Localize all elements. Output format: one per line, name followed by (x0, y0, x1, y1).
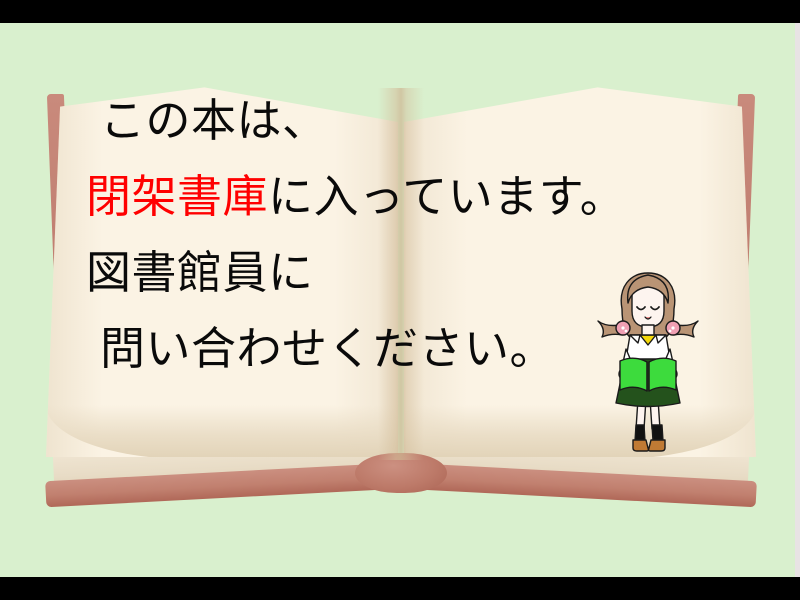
notice-line-2: 閉架書庫に入っています。 (86, 159, 676, 235)
letterbox-bar-bottom (0, 577, 800, 600)
book-cover-bottom-left (45, 463, 394, 507)
book-cover-bottom-right (408, 463, 757, 507)
slide-edge-strip (795, 23, 800, 577)
book-spine-bump (355, 453, 447, 493)
slide-canvas: この本は、 閉架書庫に入っています。 図書館員に 問い合わせください。 (0, 23, 800, 577)
notice-highlight-closed-stacks: 閉架書庫 (86, 170, 268, 223)
girl-reading-icon (592, 263, 704, 453)
notice-text-block: この本は、 閉架書庫に入っています。 図書館員に 問い合わせください。 (86, 83, 676, 387)
slide-stage: この本は、 閉架書庫に入っています。 図書館員に 問い合わせください。 (0, 0, 800, 600)
notice-line-2-rest: に入っています。 (268, 170, 625, 223)
notice-line-1: この本は、 (86, 83, 676, 159)
notice-line-4: 問い合わせください。 (86, 311, 676, 387)
letterbox-bar-top (0, 0, 800, 23)
notice-line-3: 図書館員に (86, 235, 676, 311)
